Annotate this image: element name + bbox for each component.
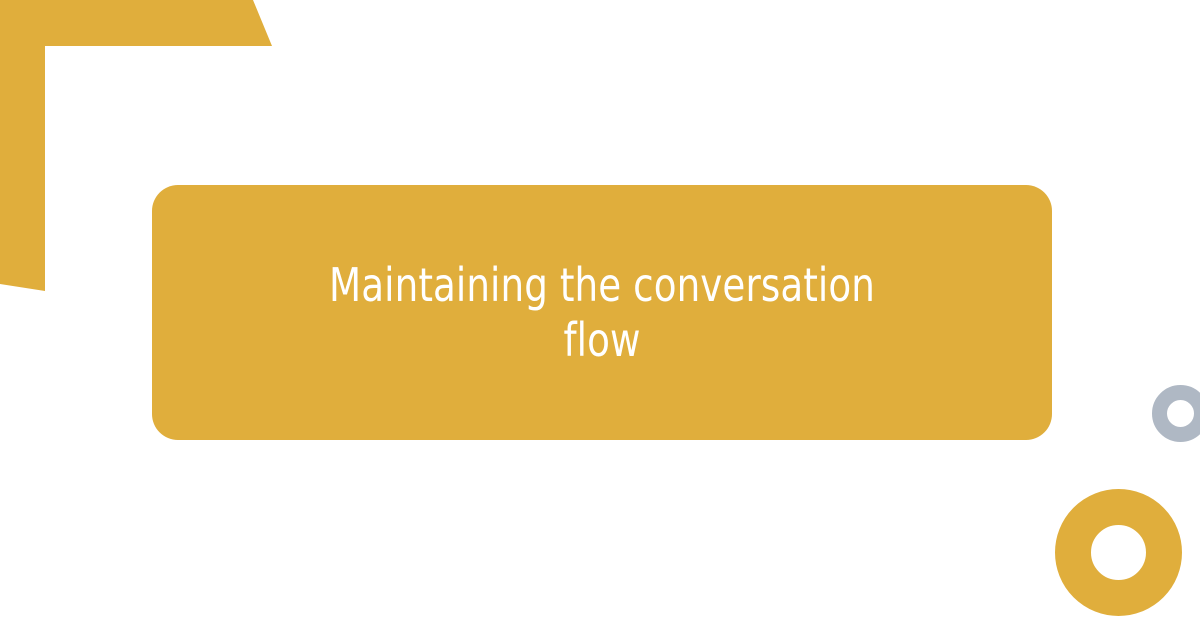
gold-ring-icon [1055,489,1182,616]
page-title: Maintaining the conversation flow [247,258,956,367]
slide-canvas: Maintaining the conversation flow [0,0,1200,630]
title-card: Maintaining the conversation flow [152,185,1052,440]
gray-ring-icon [1152,385,1200,442]
